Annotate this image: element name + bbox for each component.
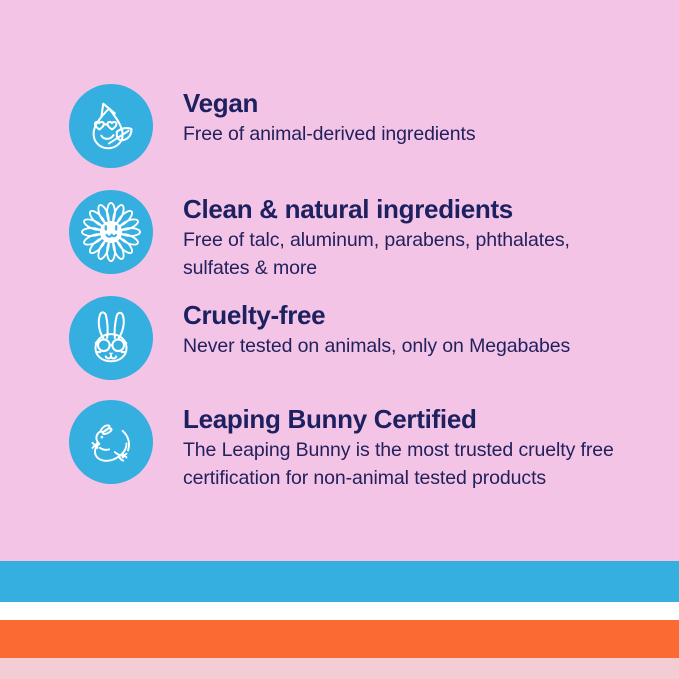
daisy-flower-face-icon bbox=[80, 201, 142, 263]
feature-item-cruelty-free: Cruelty-free Never tested on animals, on… bbox=[69, 296, 570, 380]
light-pink-band bbox=[0, 658, 679, 679]
feature-description: The Leaping Bunny is the most trusted cr… bbox=[183, 437, 653, 492]
product-benefits-panel: Vegan Free of animal-derived ingredients bbox=[0, 0, 679, 679]
bunny-face-sunglasses-icon bbox=[80, 307, 142, 369]
feature-text: Cruelty-free Never tested on animals, on… bbox=[183, 296, 570, 361]
feature-item-clean-natural-ingredients: Clean & natural ingredients Free of talc… bbox=[69, 190, 638, 283]
vegan-sprout-face-icon bbox=[80, 95, 142, 157]
feature-text: Clean & natural ingredients Free of talc… bbox=[183, 190, 638, 283]
feature-title: Leaping Bunny Certified bbox=[183, 404, 653, 434]
feature-item-leaping-bunny-certified: Leaping Bunny Certified The Leaping Bunn… bbox=[69, 400, 653, 493]
feature-description: Free of talc, aluminum, parabens, phthal… bbox=[183, 227, 638, 282]
leaping-bunny-icon bbox=[80, 411, 142, 473]
feature-text: Leaping Bunny Certified The Leaping Bunn… bbox=[183, 400, 653, 493]
feature-icon-badge bbox=[69, 400, 153, 484]
feature-item-vegan: Vegan Free of animal-derived ingredients bbox=[69, 84, 476, 168]
feature-list: Vegan Free of animal-derived ingredients bbox=[0, 0, 679, 561]
feature-icon-badge bbox=[69, 296, 153, 380]
feature-icon-badge bbox=[69, 84, 153, 168]
feature-title: Cruelty-free bbox=[183, 300, 570, 330]
blue-band bbox=[0, 561, 679, 602]
feature-description: Free of animal-derived ingredients bbox=[183, 121, 476, 149]
orange-band bbox=[0, 620, 679, 658]
feature-title: Vegan bbox=[183, 88, 476, 118]
feature-title: Clean & natural ingredients bbox=[183, 194, 638, 224]
feature-icon-badge bbox=[69, 190, 153, 274]
feature-description: Never tested on animals, only on Megabab… bbox=[183, 333, 570, 361]
feature-text: Vegan Free of animal-derived ingredients bbox=[183, 84, 476, 149]
white-band bbox=[0, 602, 679, 620]
